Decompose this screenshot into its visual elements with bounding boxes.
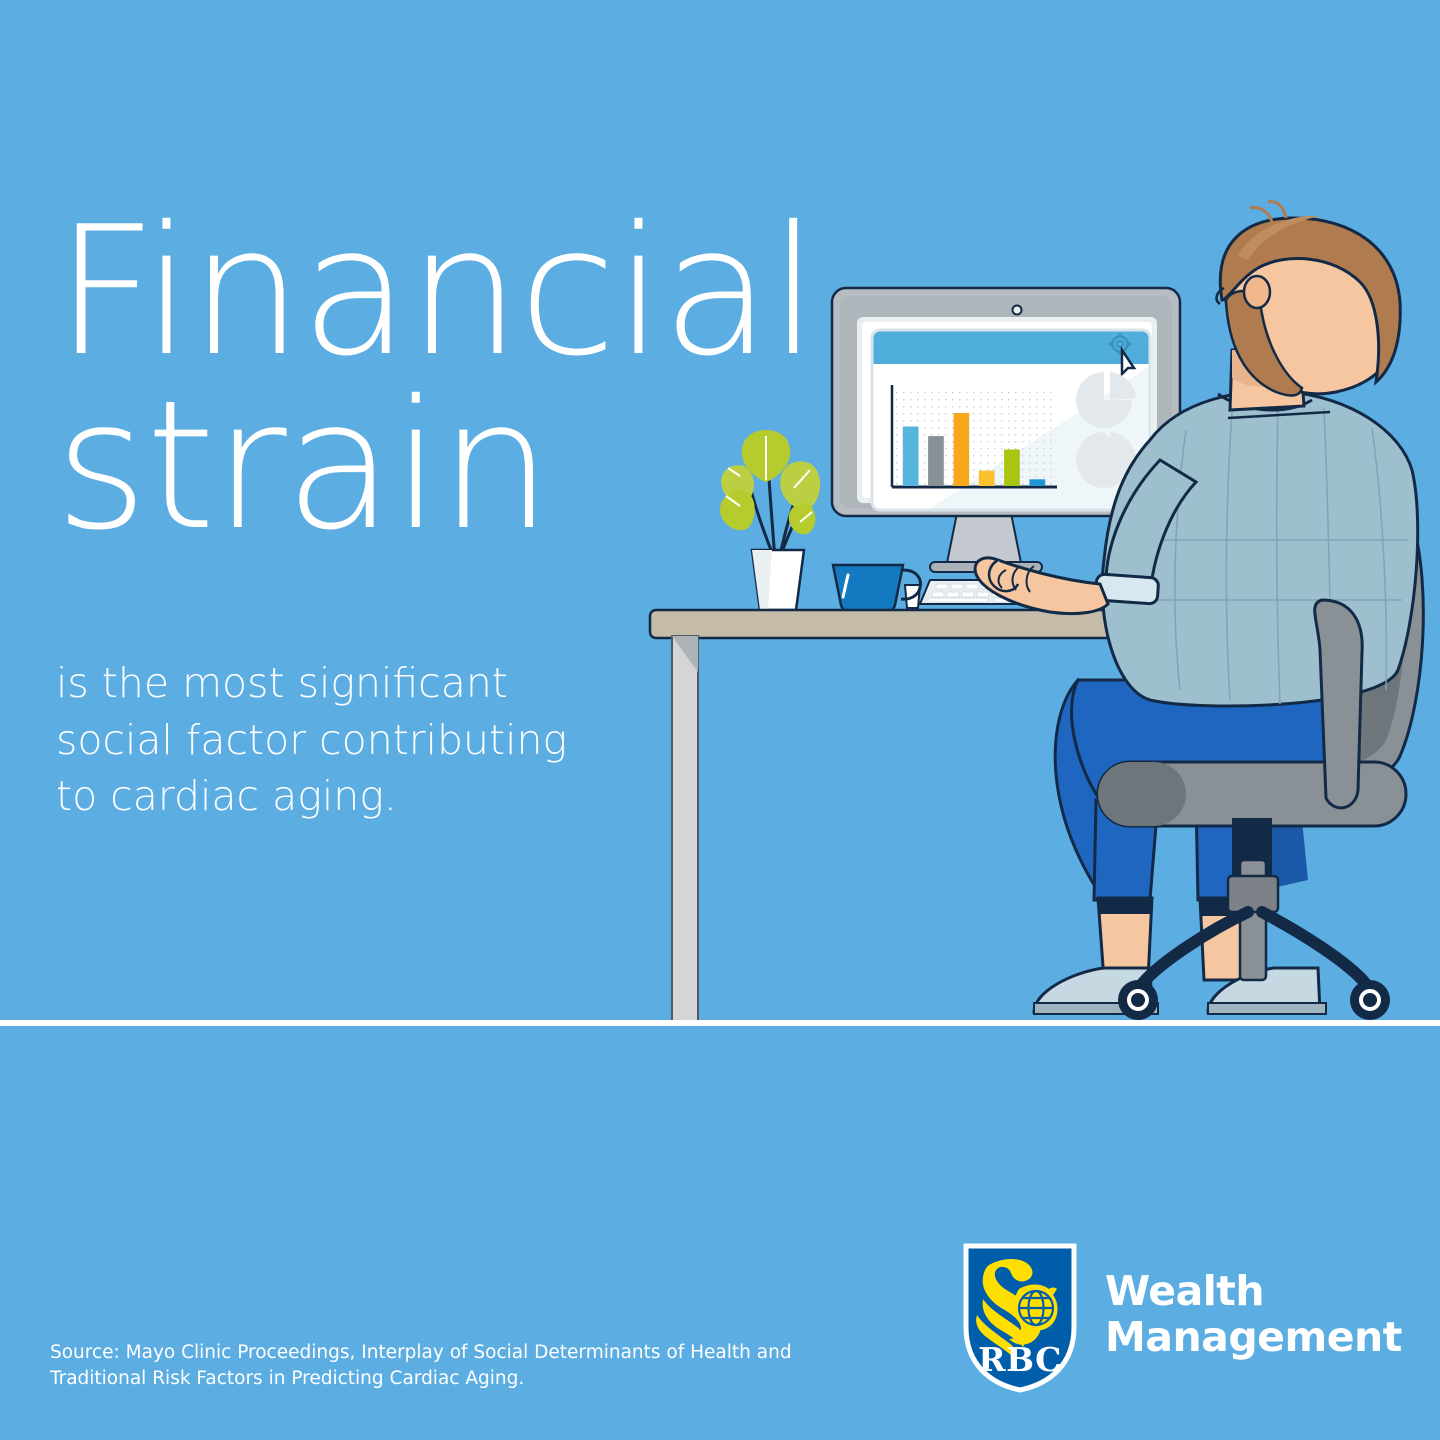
chart-bar [954, 413, 970, 486]
poster-canvas: Financial strain is the most significant… [0, 0, 1440, 1440]
rbc-shield-icon: RBC [963, 1243, 1077, 1393]
chart-bar [979, 471, 995, 486]
coffee-mug [833, 565, 920, 616]
chart-bar [1004, 450, 1020, 487]
page-subtitle: is the most significant social factor co… [56, 655, 616, 825]
source-citation: Source: Mayo Clinic Proceedings, Interpl… [50, 1340, 830, 1393]
horizontal-divider [0, 1020, 1440, 1026]
chart-bar [928, 436, 944, 486]
svg-text:RBC: RBC [978, 1340, 1062, 1379]
rbc-wealth-management-logo[interactable]: RBC Wealth Management [963, 1243, 1402, 1393]
chart-bar [903, 427, 919, 487]
page-title: Financial strain [55, 205, 875, 554]
wealth-management-wordmark: Wealth Management [1105, 1269, 1402, 1367]
chart-bar [1030, 479, 1046, 486]
